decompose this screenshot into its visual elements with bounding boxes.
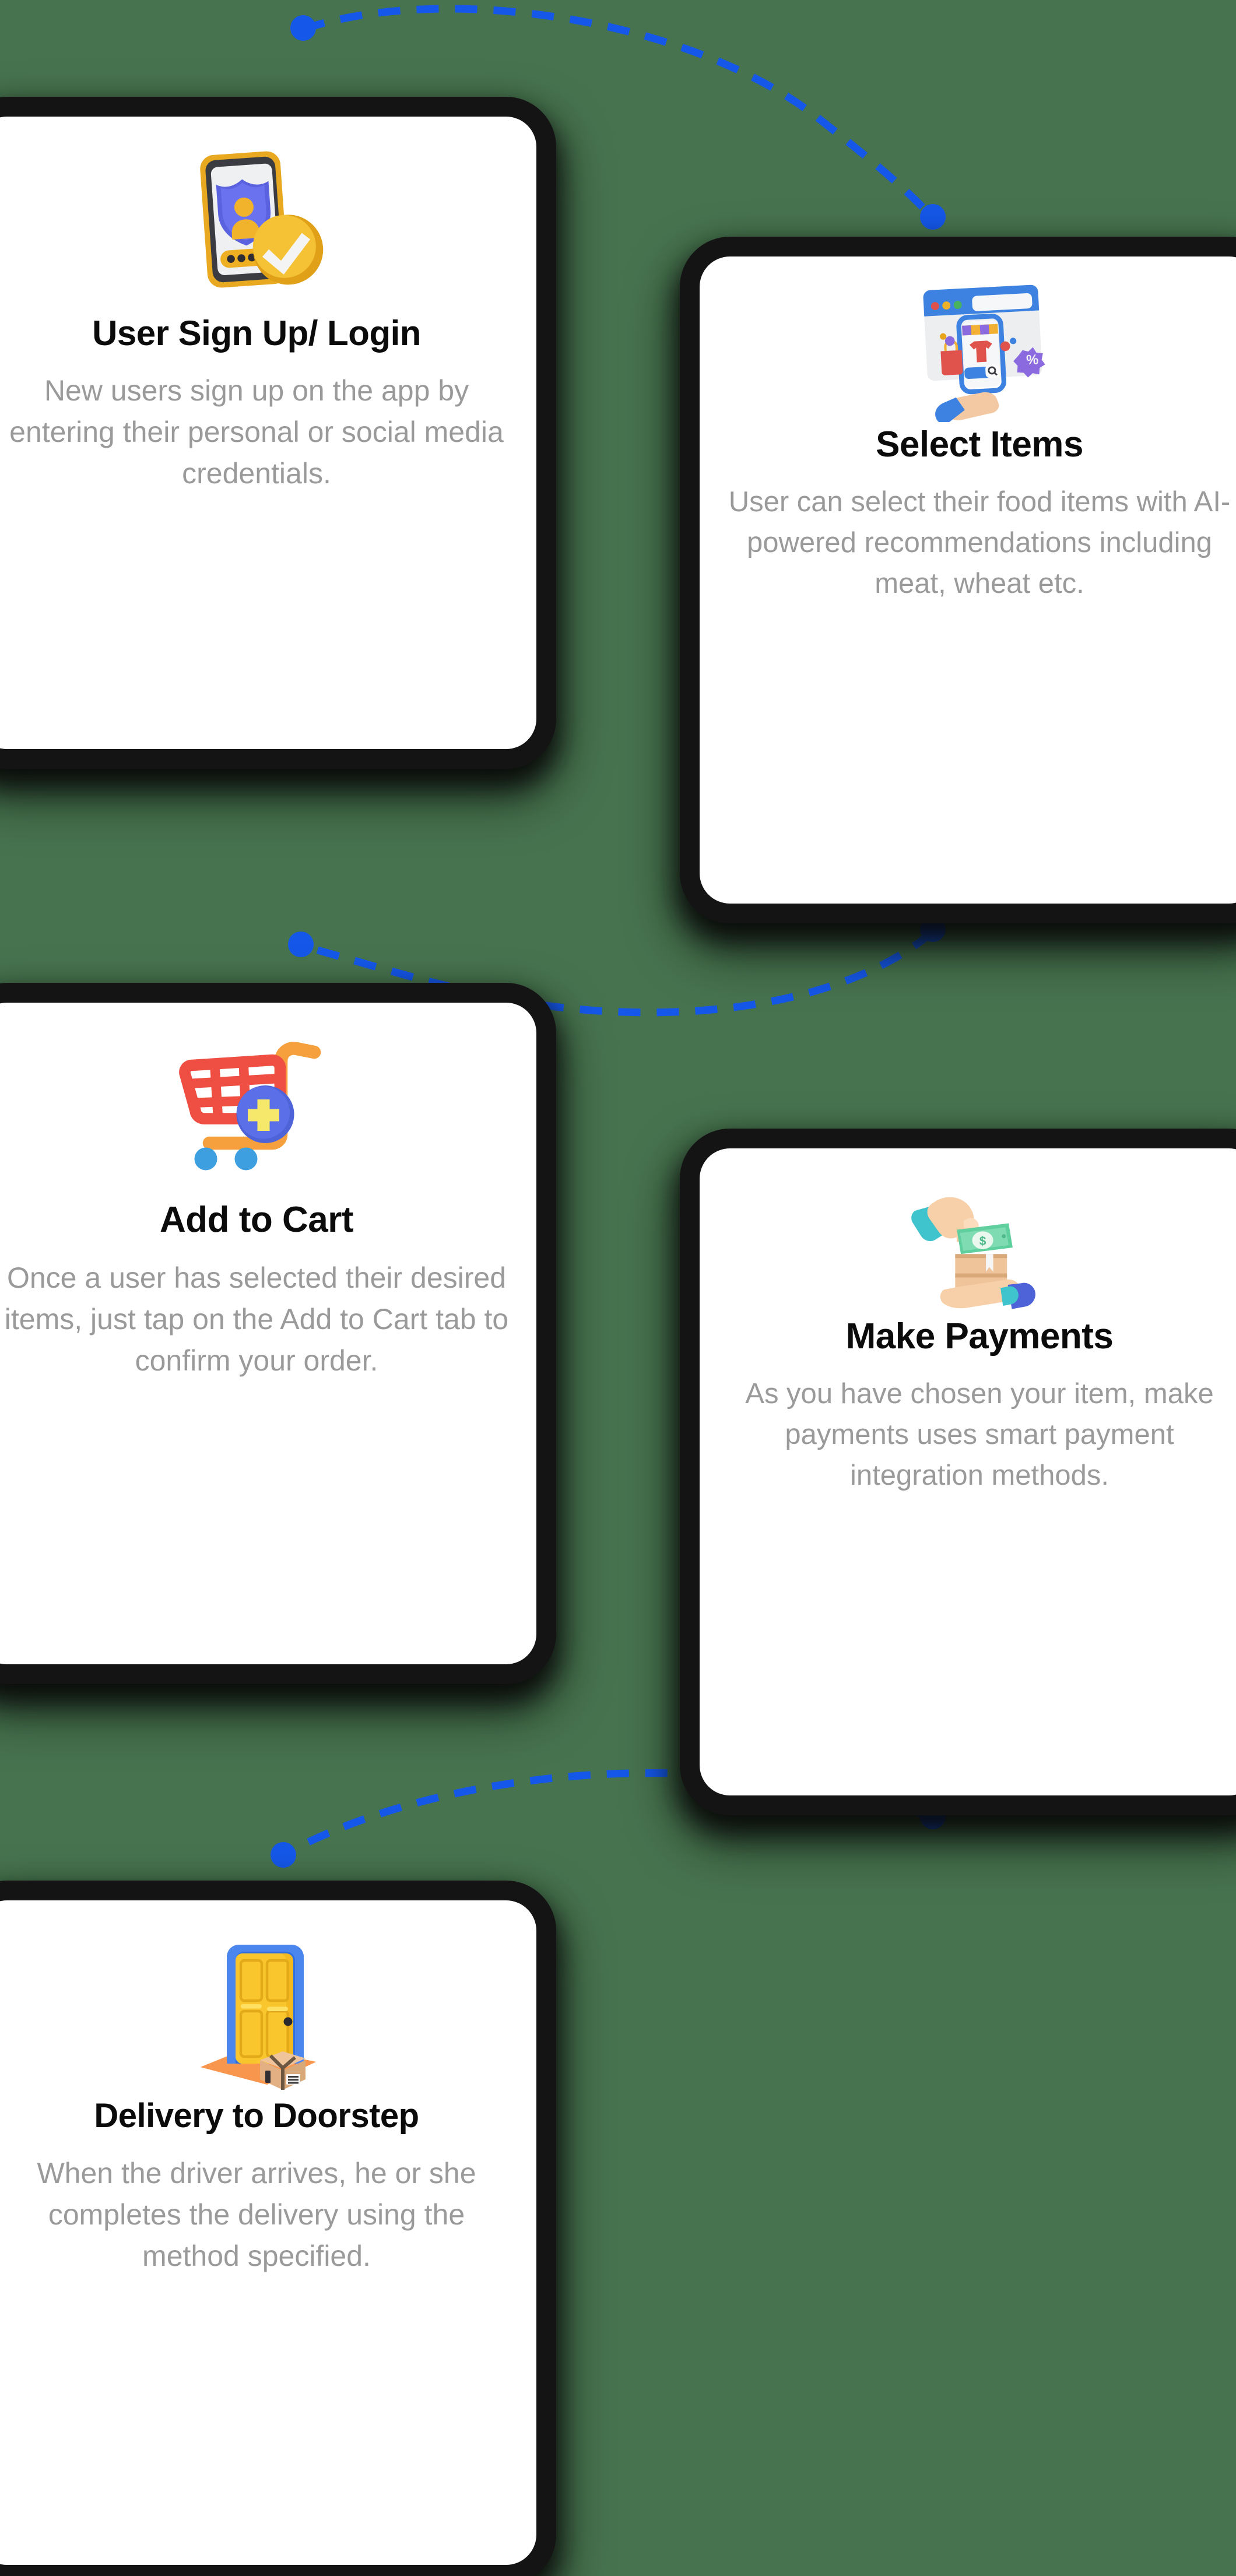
online-shopping-browser-icon: % <box>898 276 1061 422</box>
connector-dot-step3-top <box>288 932 314 957</box>
connector-dot-top-left <box>290 15 316 41</box>
step-card-description: User can select their food items with AI… <box>726 482 1233 604</box>
connector-dot-step5-top <box>271 1842 296 1868</box>
door-parcel-delivery-icon <box>169 1920 344 2095</box>
step-card-title: User Sign Up/ Login <box>92 314 421 353</box>
step-card-description: As you have chosen your item, make payme… <box>726 1374 1233 1496</box>
step-card-description: New users sign up on the app by entering… <box>3 370 510 494</box>
step-card-select-items[interactable]: % Select Items User can select their foo… <box>700 256 1236 904</box>
shopping-cart-plus-icon <box>169 1022 344 1197</box>
step-card-make-payments[interactable]: $ Make Payments As you have chosen your … <box>700 1148 1236 1795</box>
step-card-title: Delivery to Doorstep <box>94 2097 419 2135</box>
svg-text:%: % <box>1026 352 1039 368</box>
flow-diagram: User Sign Up/ Login New users sign up on… <box>0 0 1236 2576</box>
connector-dot-step2-bottom <box>920 916 946 942</box>
svg-text:$: $ <box>979 1235 986 1248</box>
step-card-user-sign-up[interactable]: User Sign Up/ Login New users sign up on… <box>0 117 536 749</box>
step-card-delivery-to-doorstep[interactable]: Delivery to Doorstep When the driver arr… <box>0 1900 536 2565</box>
step-card-add-to-cart[interactable]: Add to Cart Once a user has selected the… <box>0 1003 536 1664</box>
step-card-description: Once a user has selected their desired i… <box>3 1257 510 1382</box>
connector-path-middle <box>301 933 932 1013</box>
step-card-title: Select Items <box>876 424 1083 465</box>
mobile-login-shield-icon <box>169 136 344 311</box>
step-card-description: When the driver arrives, he or she compl… <box>3 2153 510 2277</box>
cash-payment-hand-icon: $ <box>898 1168 1061 1314</box>
connector-dot-step4-bottom <box>920 1804 946 1829</box>
step-card-title: Add to Cart <box>160 1200 353 1240</box>
connector-dot-step2-top <box>920 204 946 230</box>
step-card-title: Make Payments <box>846 1316 1114 1356</box>
